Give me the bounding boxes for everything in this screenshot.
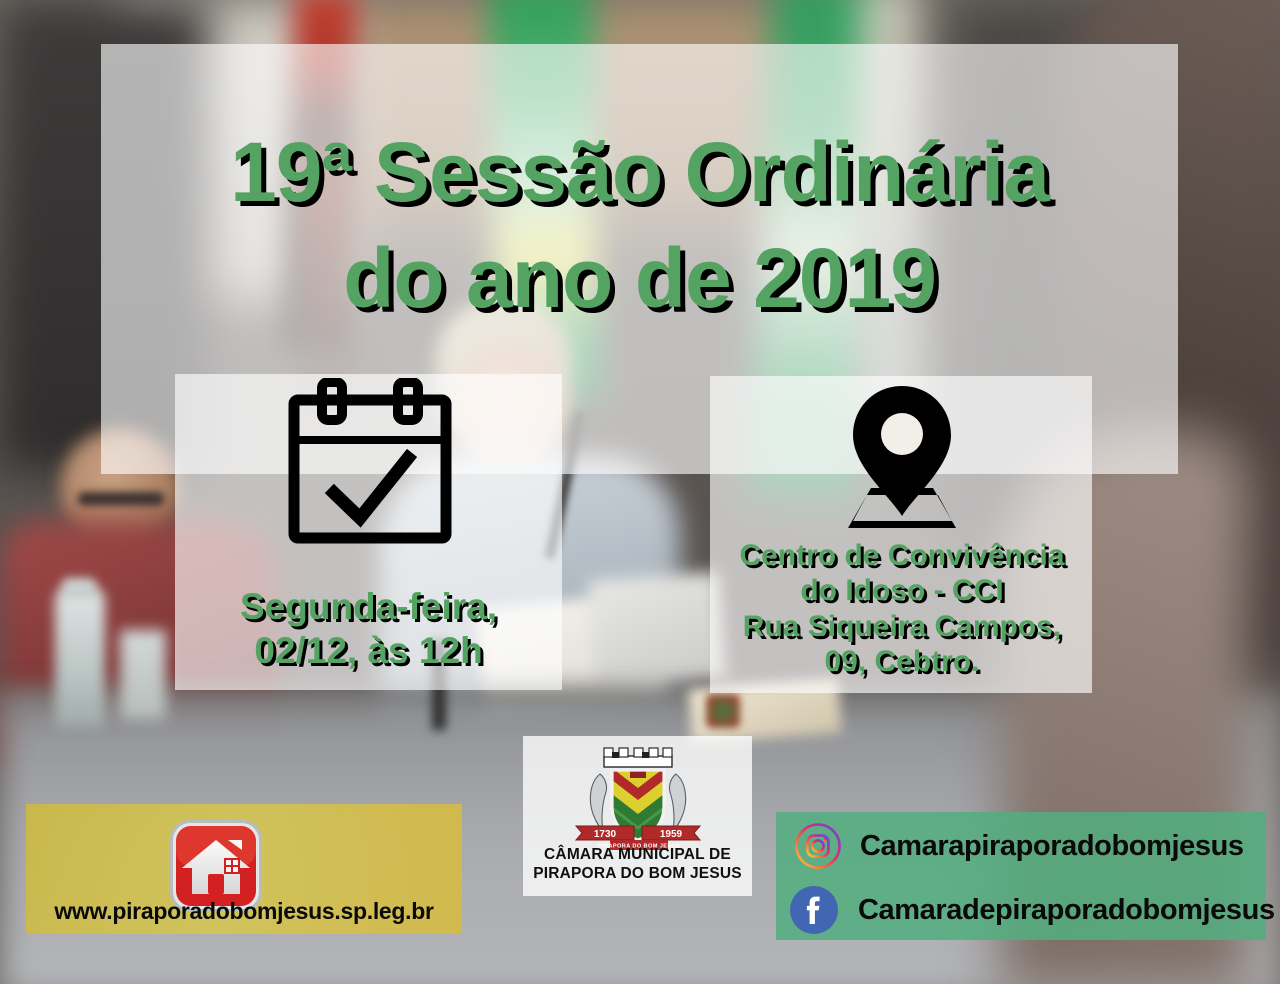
place-line-2: do Idoso - CCI	[706, 573, 1098, 608]
facebook-row[interactable]: Camaradepiraporadobomjesus	[788, 884, 1275, 936]
headline-line-1: 19ª Sessão Ordinária	[230, 125, 1049, 219]
coat-of-arms: 1730 1959 PIRAPORA DO BOM JESUS	[560, 744, 716, 852]
place-line-4: 09, Cebtro.	[706, 644, 1098, 679]
instagram-row[interactable]: Camarapiraporadobomjesus	[794, 822, 1244, 870]
crest-year-left: 1730	[594, 829, 617, 840]
date-text: Segunda-feira, 02/12, às 12h	[175, 585, 562, 672]
attendee-glasses	[78, 492, 164, 506]
water-bottle	[55, 588, 105, 728]
facebook-icon[interactable]	[788, 884, 840, 936]
website-url[interactable]: www.piraporadobomjesus.sp.leg.br	[26, 898, 462, 925]
drinking-glass	[120, 630, 166, 720]
plaque-crest	[706, 694, 740, 728]
place-line-3: Rua Siqueira Campos,	[706, 609, 1098, 644]
water-bottle-cap	[62, 578, 96, 598]
facebook-handle[interactable]: Camaradepiraporadobomjesus	[858, 894, 1275, 927]
crest-caption-line-1: CÂMARA MUNICIPAL DE	[523, 846, 752, 865]
speaker-face	[456, 348, 560, 472]
mural-crown	[604, 748, 672, 767]
instagram-handle[interactable]: Camarapiraporadobomjesus	[860, 830, 1244, 863]
crest-year-right: 1959	[660, 829, 683, 840]
map-pin-icon	[826, 382, 978, 532]
page-title: 19ª Sessão Ordinária do ano de 2019	[101, 120, 1178, 332]
place-line-1: Centro de Convivência	[706, 538, 1098, 573]
place-text: Centro de Convivência do Idoso - CCI Rua…	[706, 538, 1098, 680]
calendar-check-icon	[282, 378, 458, 550]
event-poster: 19ª Sessão Ordinária do ano de 2019 Segu…	[0, 0, 1280, 984]
crest-caption: CÂMARA MUNICIPAL DE PIRAPORA DO BOM JESU…	[523, 846, 752, 894]
instagram-icon[interactable]	[794, 822, 842, 870]
crest-caption-line-2: PIRAPORA DO BOM JESUS	[523, 865, 752, 884]
date-line-2: 02/12, às 12h	[175, 629, 562, 673]
headline-line-2: do ano de 2019	[101, 226, 1178, 332]
date-line-1: Segunda-feira,	[175, 585, 562, 629]
